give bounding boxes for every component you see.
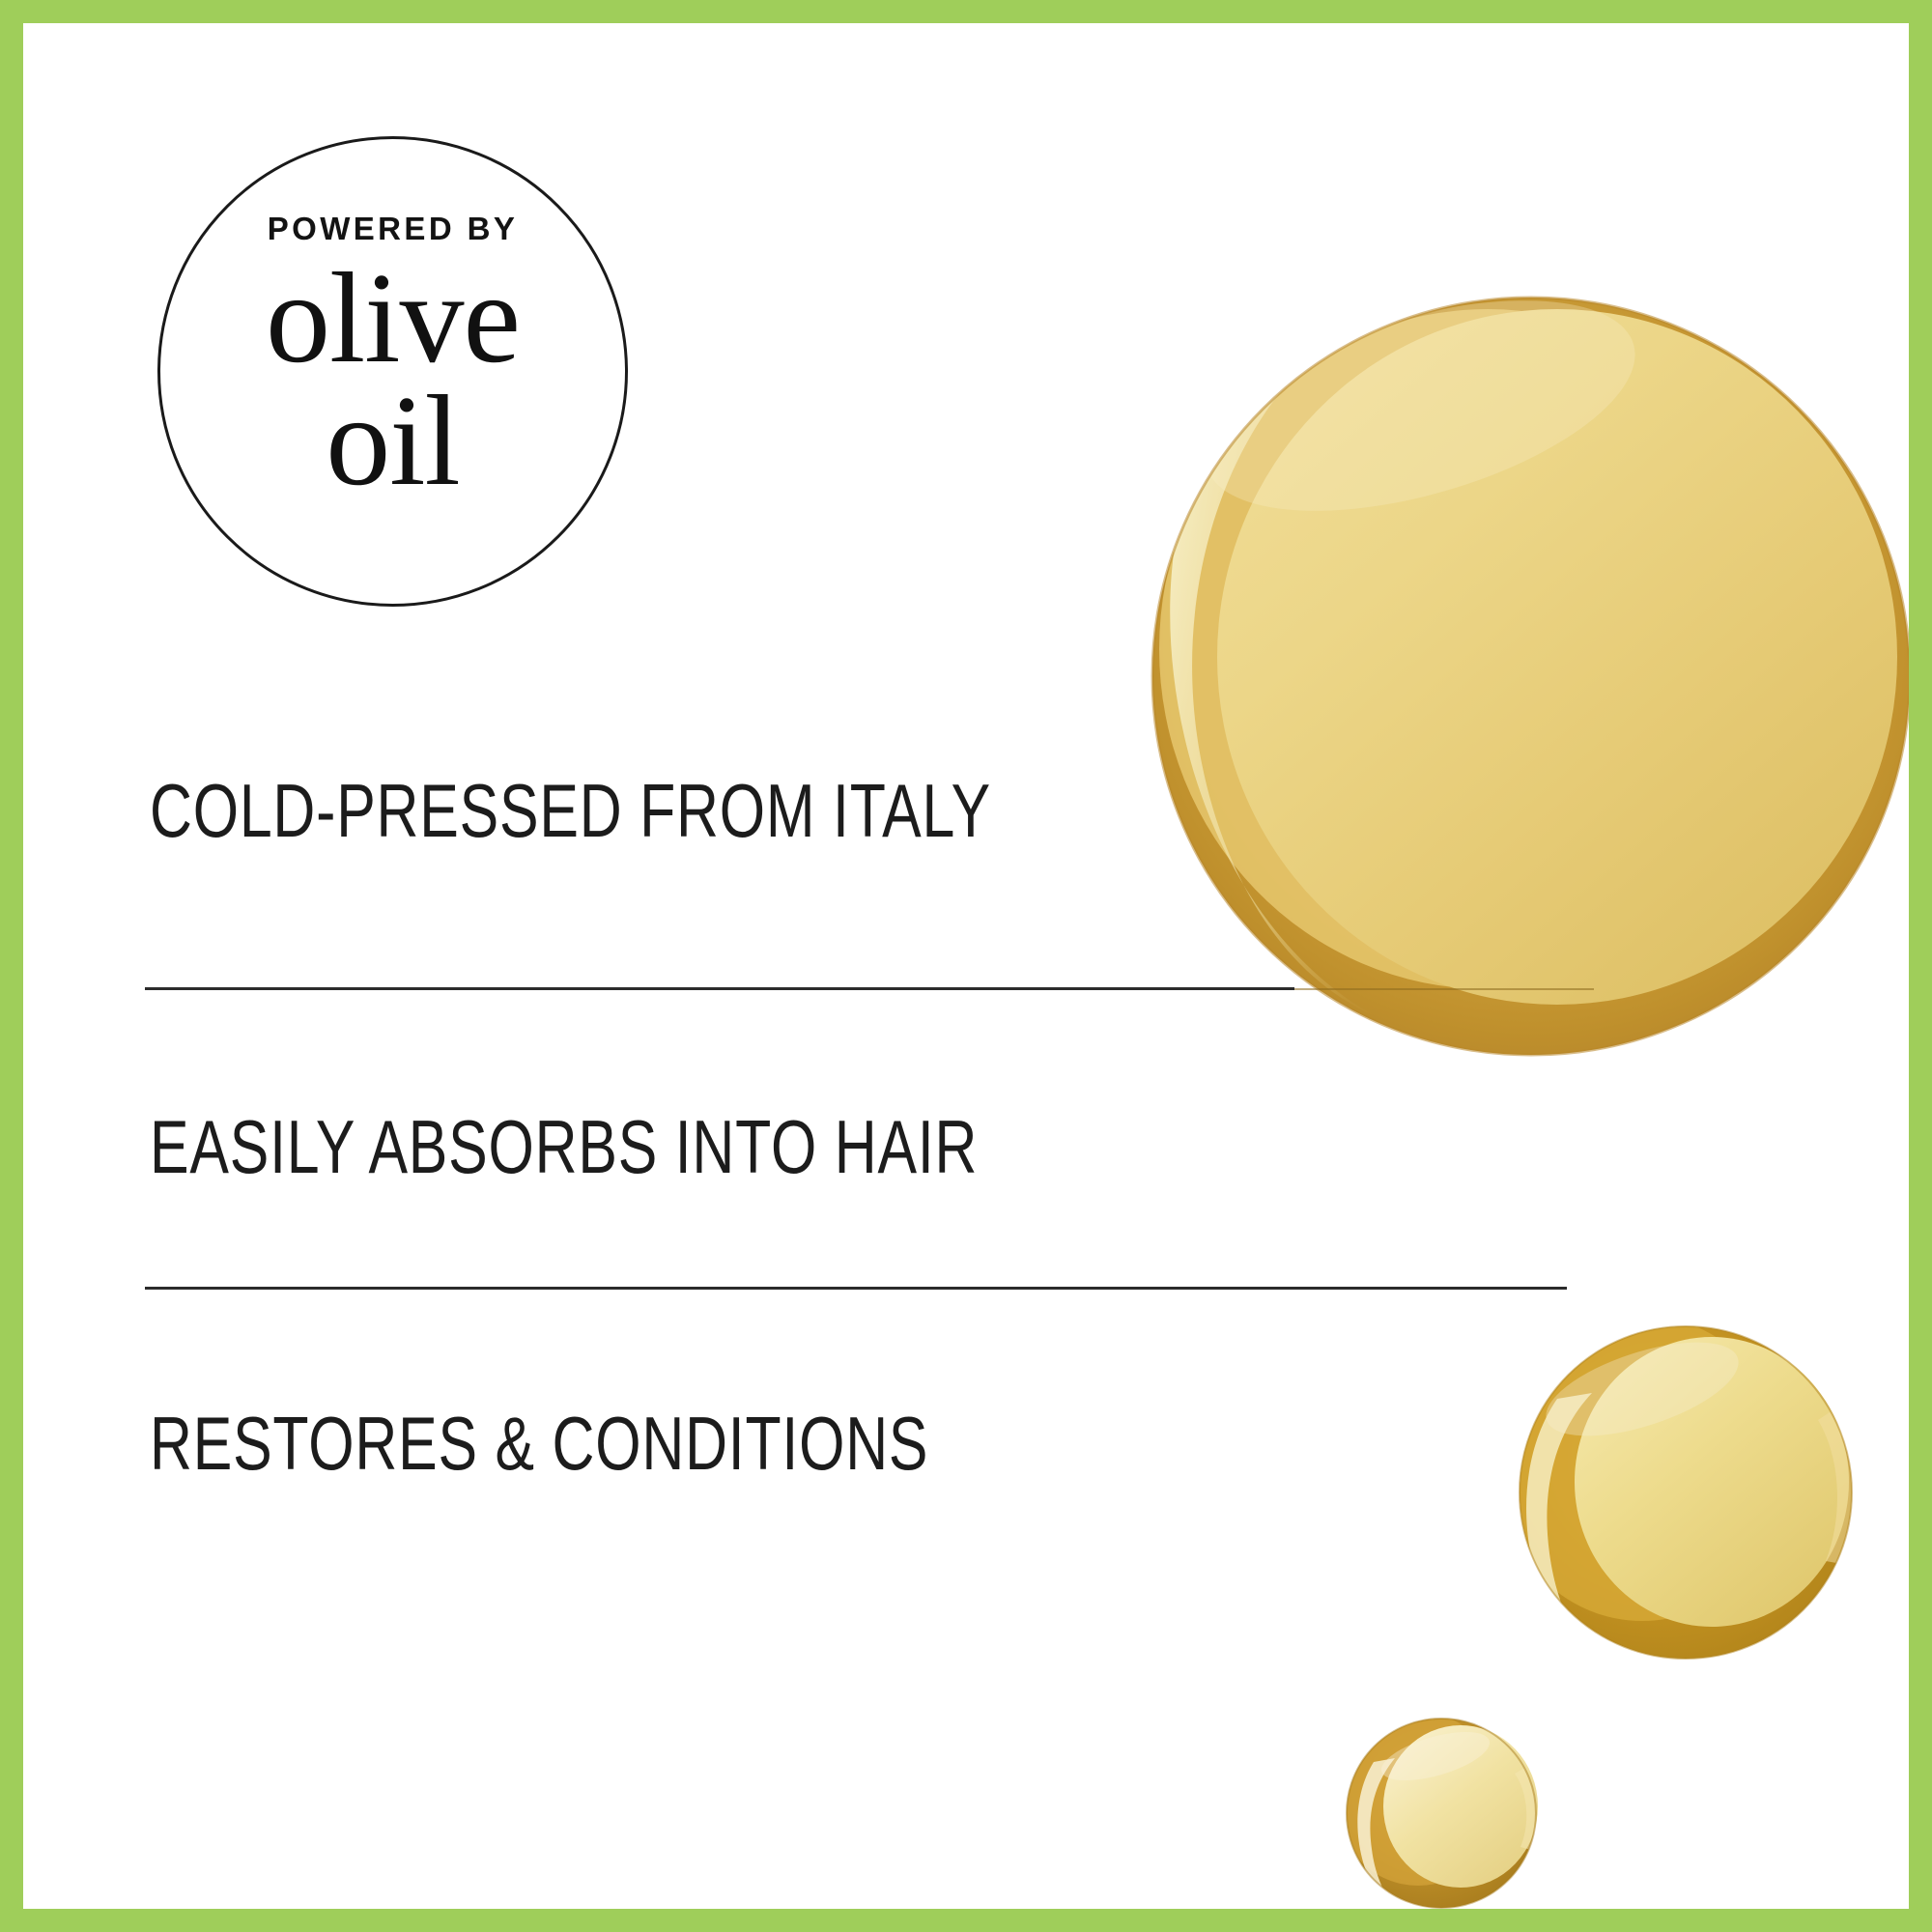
medium-oil-droplet <box>1497 1316 1858 1683</box>
powered-by-olive-oil-badge: POWERED BY olive oil <box>157 136 628 607</box>
badge-content: POWERED BY olive oil <box>160 139 625 604</box>
badge-eyebrow-text: POWERED BY <box>268 213 519 244</box>
feature-item-easily-absorbs: EASILY ABSORBS INTO HAIR <box>150 1109 978 1184</box>
feature-item-restores-conditions: RESTORES & CONDITIONS <box>150 1406 928 1481</box>
badge-word-oil: oil <box>326 381 459 501</box>
feature-item-cold-pressed: COLD-PRESSED FROM ITALY <box>150 773 991 848</box>
feature-divider-1 <box>145 987 1294 990</box>
divider-1-overlay <box>1294 988 1594 990</box>
badge-word-olive: olive <box>266 258 520 379</box>
feature-divider-2 <box>145 1287 1567 1290</box>
olive-oil-benefits-panel: POWERED BY olive oil COLD-PRESSED FROM I… <box>0 0 1932 1932</box>
large-oil-droplet <box>1091 259 1910 1055</box>
small-oil-droplet <box>1335 1712 1540 1924</box>
